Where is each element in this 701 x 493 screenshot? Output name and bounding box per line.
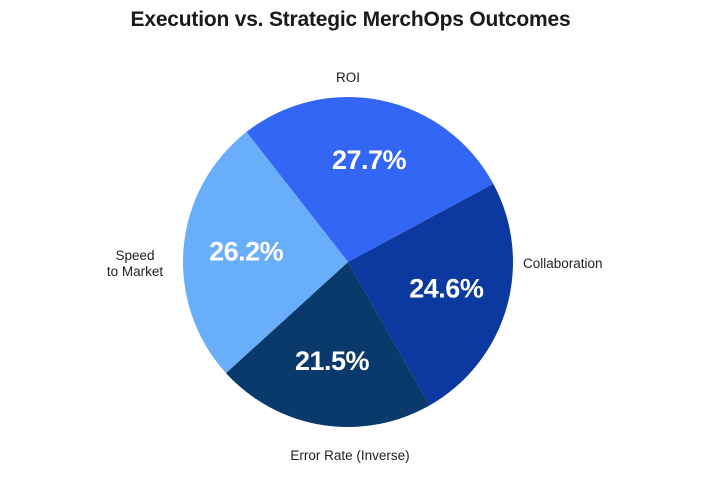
slice-value-roi: 27.7%	[332, 145, 407, 175]
category-label-speed-line1: Speed	[115, 248, 154, 263]
pie-chart-figure: Execution vs. Strategic MerchOps Outcome…	[0, 0, 701, 488]
category-label-error-rate: Error Rate (Inverse)	[256, 448, 444, 464]
category-label-collaboration: Collaboration	[523, 256, 603, 272]
category-label-speed-line2: to Market	[107, 264, 163, 279]
category-label-speed-to-market: Speedto Market	[92, 248, 178, 279]
pie-chart-area: 27.7% 24.6% 21.5% 26.2% ROI Collaboratio…	[0, 0, 701, 488]
slice-value-speed-to-market: 26.2%	[209, 237, 284, 267]
slice-value-error-rate: 21.5%	[295, 346, 370, 376]
category-label-roi: ROI	[306, 70, 390, 86]
slice-value-collaboration: 24.6%	[409, 273, 484, 303]
